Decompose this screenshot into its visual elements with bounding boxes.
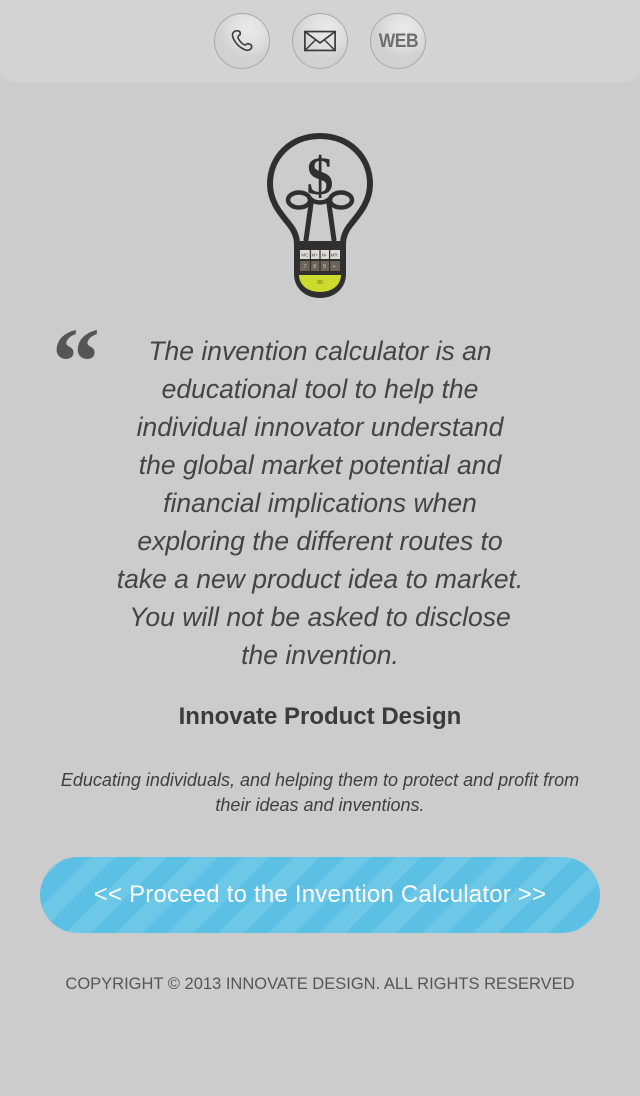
web-icon: WEB bbox=[378, 32, 417, 51]
svg-text:M+: M+ bbox=[311, 252, 318, 257]
email-icon bbox=[303, 28, 337, 54]
svg-text:9: 9 bbox=[323, 264, 326, 270]
svg-text:7: 7 bbox=[304, 264, 307, 270]
logo-container: $ MC M+ M- MR bbox=[0, 132, 640, 312]
quote-open-mark: “ bbox=[52, 314, 100, 410]
phone-icon bbox=[227, 26, 257, 56]
web-contact-button[interactable]: WEB bbox=[370, 13, 426, 69]
proceed-to-calculator-button[interactable]: << Proceed to the Invention Calculator >… bbox=[40, 857, 600, 933]
svg-text:M-: M- bbox=[322, 252, 328, 257]
quote-block: “ ” The invention calculator is an educa… bbox=[0, 332, 640, 674]
contact-header-bar: WEB bbox=[0, 0, 640, 82]
copyright-text: COPYRIGHT © 2013 INNOVATE DESIGN. ALL RI… bbox=[0, 975, 640, 994]
quote-text: The invention calculator is an education… bbox=[50, 332, 590, 674]
phone-contact-button[interactable] bbox=[214, 13, 270, 69]
svg-text:+: + bbox=[333, 264, 336, 270]
svg-text:00: 00 bbox=[317, 280, 323, 286]
svg-text:8: 8 bbox=[313, 264, 316, 270]
tagline-text: Educating individuals, and helping them … bbox=[0, 768, 640, 818]
svg-text:MR: MR bbox=[331, 252, 339, 257]
lightbulb-calculator-icon: $ MC M+ M- MR bbox=[261, 132, 379, 312]
svg-text:$: $ bbox=[307, 146, 334, 206]
email-contact-button[interactable] bbox=[292, 13, 348, 69]
svg-text:MC: MC bbox=[301, 252, 309, 257]
page-title: Innovate Product Design bbox=[0, 703, 640, 731]
